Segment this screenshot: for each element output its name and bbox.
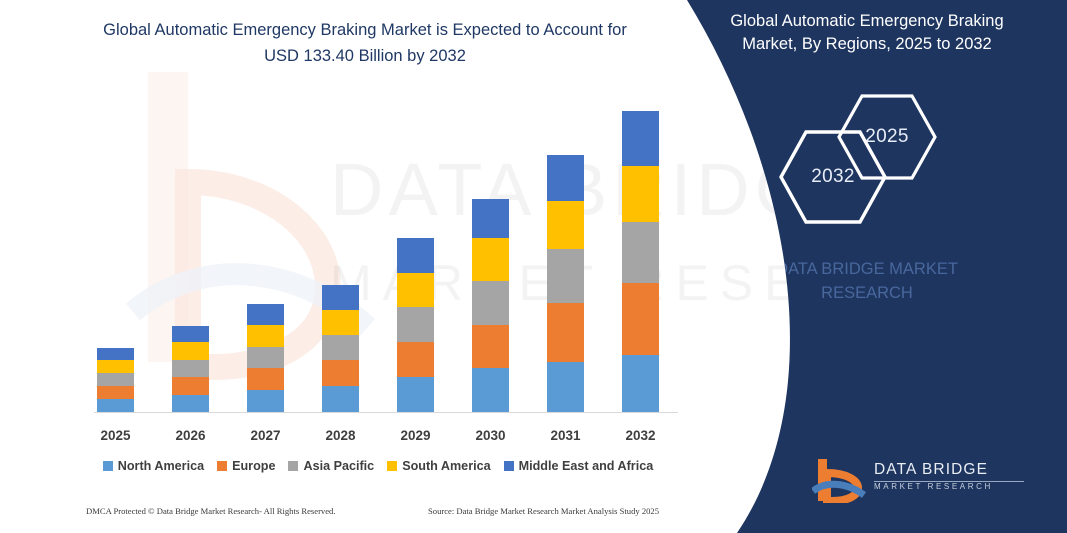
bar-segment [97, 348, 134, 360]
stacked-bar [97, 348, 134, 412]
stacked-bar [622, 111, 659, 412]
legend-item[interactable]: Europe [217, 459, 275, 473]
hexagon-end-label: 2032 [779, 130, 887, 224]
bar-column [381, 238, 451, 412]
chart-area: DATA BRIDGE MARKET RESEARCH Global Autom… [0, 0, 720, 533]
bar-segment [547, 303, 584, 362]
bar-segment [322, 285, 359, 310]
footer-source: Source: Data Bridge Market Research Mark… [428, 506, 659, 516]
x-axis-tick-label: 2031 [531, 428, 601, 443]
panel-title: Global Automatic Emergency Braking Marke… [667, 10, 1067, 56]
company-logo-line-1: DATA BRIDGE [874, 461, 993, 478]
bar-column [606, 111, 676, 412]
plot-region [78, 100, 678, 413]
panel-title-line-1: Global Automatic Emergency Braking [679, 10, 1055, 33]
bar-segment [247, 390, 284, 412]
bar-segment [97, 360, 134, 373]
legend-label: Europe [232, 459, 275, 473]
stacked-bar [397, 238, 434, 412]
x-axis-tick-label: 2025 [81, 428, 151, 443]
x-axis-line [94, 412, 678, 413]
bar-segment [472, 325, 509, 369]
bar-column [231, 304, 301, 412]
bar-column [456, 199, 526, 412]
stacked-bar [547, 155, 584, 412]
x-axis-tick-label: 2029 [381, 428, 451, 443]
stacked-bar [322, 285, 359, 412]
legend-swatch-icon [217, 461, 227, 471]
legend-swatch-icon [387, 461, 397, 471]
bar-segment [322, 386, 359, 412]
x-axis-tick-label: 2030 [456, 428, 526, 443]
legend-swatch-icon [288, 461, 298, 471]
bar-column [156, 326, 226, 412]
company-logo: DATA BRIDGE MARKET RESEARCH [812, 455, 1027, 507]
bar-segment [247, 325, 284, 347]
legend-swatch-icon [103, 461, 113, 471]
legend-label: South America [402, 459, 490, 473]
chart-legend: North AmericaEuropeAsia PacificSouth Ame… [78, 455, 678, 477]
bar-segment [622, 222, 659, 283]
legend-item[interactable]: Asia Pacific [288, 459, 374, 473]
stacked-bar [472, 199, 509, 412]
company-logo-line-2: MARKET RESEARCH [874, 482, 993, 491]
x-axis-tick-label: 2026 [156, 428, 226, 443]
bar-segment [247, 347, 284, 369]
legend-label: Middle East and Africa [519, 459, 654, 473]
legend-label: Asia Pacific [303, 459, 374, 473]
bar-column [306, 285, 376, 412]
bar-segment [472, 281, 509, 325]
bar-segment [97, 373, 134, 386]
bar-segment [622, 166, 659, 223]
legend-item[interactable]: North America [103, 459, 204, 473]
bar-segment [622, 111, 659, 165]
panel-title-line-2: Market, By Regions, 2025 to 2032 [679, 33, 1055, 56]
bar-segment [322, 310, 359, 335]
bar-segment [97, 386, 134, 399]
bar-segment [172, 377, 209, 394]
x-axis-tick-label: 2027 [231, 428, 301, 443]
bar-segment [472, 238, 509, 282]
x-axis-tick-label: 2028 [306, 428, 376, 443]
stacked-bar [172, 326, 209, 412]
bar-segment [397, 273, 434, 308]
bar-segment [97, 399, 134, 412]
legend-item[interactable]: South America [387, 459, 490, 473]
bar-segment [322, 360, 359, 386]
bar-segment [397, 238, 434, 273]
bar-segment [172, 360, 209, 377]
bar-group [78, 100, 678, 412]
bar-segment [322, 335, 359, 360]
bar-column [81, 348, 151, 412]
infographic-root: DATA BRIDGE MARKET RESEARCH Global Autom… [0, 0, 1067, 533]
bar-segment [472, 368, 509, 412]
footer: DMCA Protected © Data Bridge Market Rese… [0, 506, 700, 526]
footer-copyright: DMCA Protected © Data Bridge Market Rese… [86, 506, 336, 516]
legend-swatch-icon [504, 461, 514, 471]
bar-segment [172, 326, 209, 342]
bar-segment [472, 199, 509, 238]
bar-segment [247, 304, 284, 325]
company-logo-text: DATA BRIDGE MARKET RESEARCH [874, 461, 993, 491]
bar-segment [547, 362, 584, 412]
bar-segment [622, 355, 659, 412]
bar-segment [172, 395, 209, 412]
data-bridge-logo-icon [812, 457, 868, 503]
bar-segment [397, 377, 434, 412]
bar-segment [172, 342, 209, 359]
legend-label: North America [118, 459, 204, 473]
bar-segment [547, 249, 584, 303]
bar-segment [547, 201, 584, 249]
bar-segment [397, 307, 434, 342]
stacked-bar [247, 304, 284, 412]
x-axis-tick-label: 2032 [606, 428, 676, 443]
logo-divider [874, 481, 1024, 482]
bar-segment [547, 155, 584, 201]
hexagon-badge-end: 2032 [779, 130, 887, 224]
bar-column [531, 155, 601, 412]
bar-segment [247, 368, 284, 390]
bar-segment [397, 342, 434, 377]
chart-title-line-1: Global Automatic Emergency Braking Marke… [50, 18, 680, 44]
bar-segment [622, 283, 659, 355]
legend-item[interactable]: Middle East and Africa [504, 459, 654, 473]
x-axis-labels: 20252026202720282029203020312032 [78, 424, 678, 446]
